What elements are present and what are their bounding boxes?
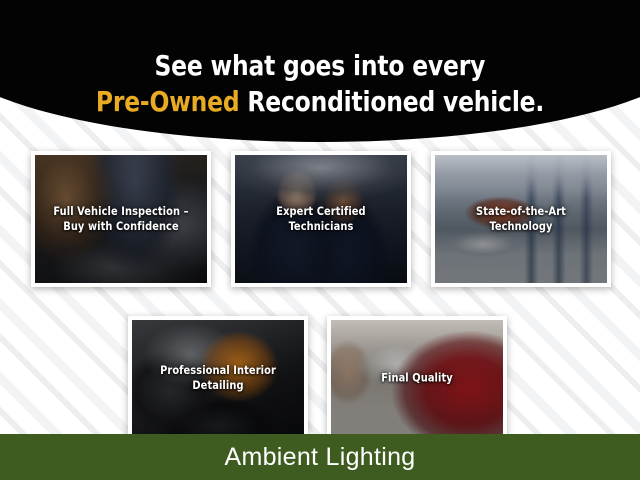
- card-label-final-line-1: Final Quality: [341, 371, 493, 386]
- footer-banner: Ambient Lighting: [0, 434, 640, 480]
- card-label-inspection-line-2: Buy with Confidence: [45, 219, 197, 234]
- card-state-of-the-art-technology[interactable]: State-of-the-Art Technology: [431, 151, 611, 287]
- card-label-inspection: Full Vehicle Inspection – Buy with Confi…: [35, 204, 207, 234]
- card-label-technology-line-1: State-of-the-Art Technology: [445, 204, 597, 234]
- card-label-final: Final Quality: [331, 371, 503, 386]
- card-final-quality[interactable]: Final Quality: [327, 316, 507, 440]
- card-professional-interior-detailing[interactable]: Professional Interior Detailing: [128, 316, 308, 440]
- card-full-vehicle-inspection[interactable]: Full Vehicle Inspection – Buy with Confi…: [31, 151, 211, 287]
- card-label-detailing-line-1: Professional Interior: [142, 363, 294, 378]
- card-label-technicians: Expert Certified Technicians: [235, 204, 407, 234]
- header-text-block: See what goes into every Pre-Owned Recon…: [0, 0, 640, 142]
- headline-line-1: See what goes into every: [155, 48, 486, 84]
- card-expert-certified-technicians[interactable]: Expert Certified Technicians: [231, 151, 411, 287]
- card-label-inspection-line-1: Full Vehicle Inspection –: [45, 204, 197, 219]
- card-label-technicians-line-1: Expert Certified Technicians: [245, 204, 397, 234]
- headline-accent-pre-owned: Pre-Owned: [96, 85, 240, 118]
- footer-banner-label: Ambient Lighting: [224, 445, 415, 470]
- card-label-technology: State-of-the-Art Technology: [435, 204, 607, 234]
- headline-line-2: Pre-Owned Reconditioned vehicle.: [96, 84, 544, 120]
- headline-line-2-rest: Reconditioned vehicle.: [239, 85, 544, 118]
- promo-graphic: See what goes into every Pre-Owned Recon…: [0, 0, 640, 480]
- card-label-detailing-line-2: Detailing: [142, 378, 294, 393]
- card-label-detailing: Professional Interior Detailing: [132, 363, 304, 393]
